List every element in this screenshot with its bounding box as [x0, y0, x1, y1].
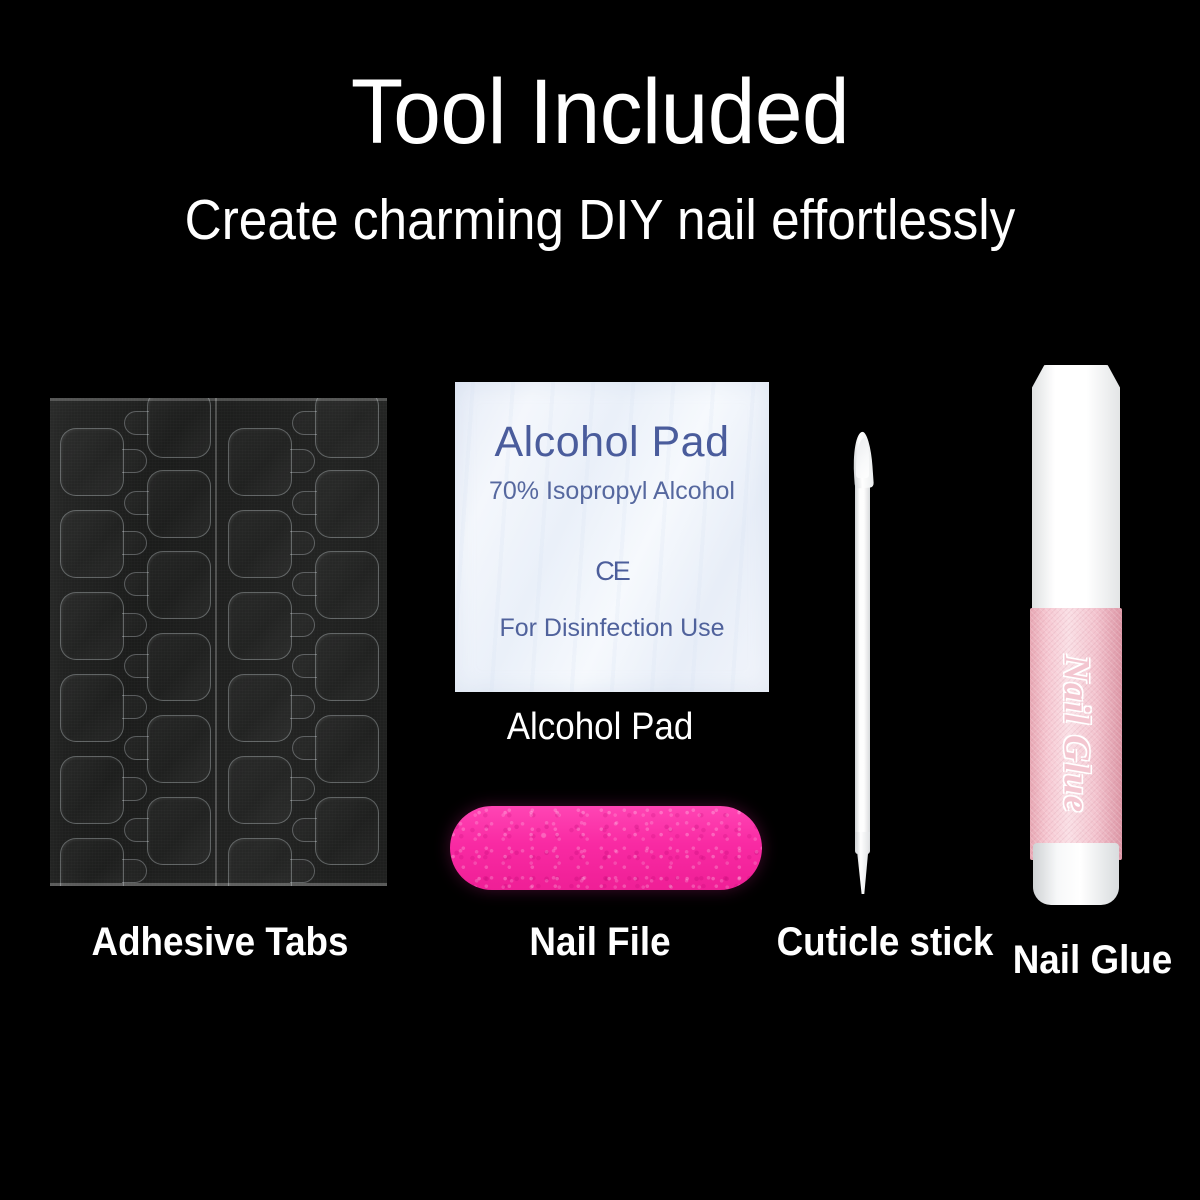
packet-subtitle: 70% Isopropyl Alcohol: [455, 477, 769, 506]
adhesive-tab: [60, 674, 124, 742]
page-subtitle: Create charming DIY nail effortlessly: [60, 192, 1140, 249]
adhesive-tab: [315, 398, 379, 458]
glue-bottle-cap: [1032, 365, 1120, 615]
page-title: Tool Included: [42, 66, 1158, 158]
cuticle-stick: [846, 432, 880, 894]
product-infographic: Tool Included Create charming DIY nail e…: [0, 0, 1200, 1200]
caption-alcohol-pad: Alcohol Pad: [453, 708, 747, 746]
adhesive-tab: [228, 428, 292, 496]
caption-nail-glue: Nail Glue: [994, 940, 1192, 980]
adhesive-tab: [60, 592, 124, 660]
adhesive-tab: [147, 633, 211, 701]
adhesive-tab: [60, 838, 124, 886]
packet-usage-text: For Disinfection Use: [455, 614, 769, 643]
adhesive-tab: [147, 797, 211, 865]
adhesive-tab: [315, 715, 379, 783]
adhesive-tab: [315, 470, 379, 538]
adhesive-tabs-sheet: [50, 398, 387, 886]
adhesive-tab: [60, 428, 124, 496]
adhesive-tab: [228, 592, 292, 660]
adhesive-tab: [315, 551, 379, 619]
ce-mark-icon: CE: [455, 556, 769, 587]
nail-file: [450, 806, 762, 890]
packet-title: Alcohol Pad: [455, 418, 769, 467]
adhesive-tab: [147, 398, 211, 458]
alcohol-pad-packet: Alcohol Pad 70% Isopropyl Alcohol CE For…: [455, 382, 769, 692]
caption-adhesive-tabs: Adhesive Tabs: [18, 922, 423, 962]
adhesive-tab: [228, 756, 292, 824]
glue-label-text: Nail Glue: [1055, 655, 1098, 813]
adhesive-tab: [315, 797, 379, 865]
adhesive-tab: [315, 633, 379, 701]
adhesive-tab: [228, 510, 292, 578]
adhesive-tab: [60, 510, 124, 578]
cuticle-stick-body: [855, 454, 870, 854]
glue-bottle-label: Nail Glue: [1030, 608, 1122, 860]
caption-nail-file: Nail File: [453, 922, 747, 962]
adhesive-tab: [147, 551, 211, 619]
adhesive-tab: [60, 756, 124, 824]
adhesive-tab: [147, 470, 211, 538]
adhesive-tab: [228, 838, 292, 886]
caption-cuticle-stick: Cuticle stick: [761, 922, 1009, 962]
glue-bottle-base: [1033, 843, 1119, 905]
nail-file-grit-texture: [450, 806, 762, 890]
sheet-divider: [215, 398, 217, 886]
nail-glue-bottle: Nail Glue: [1030, 365, 1122, 905]
adhesive-tab: [228, 674, 292, 742]
adhesive-tab: [147, 715, 211, 783]
cuticle-stick-pointed-end: [855, 832, 870, 894]
